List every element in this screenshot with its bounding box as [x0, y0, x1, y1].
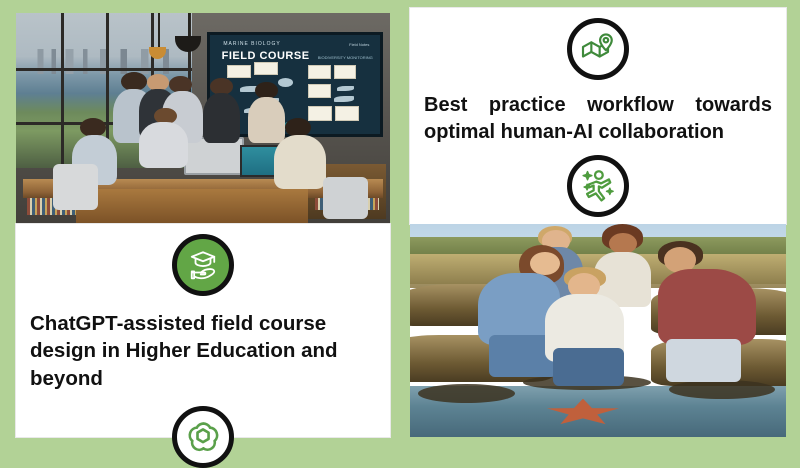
front-desk [76, 189, 308, 223]
board-title-large: FIELD COURSE [222, 50, 310, 62]
right-caption-text: Best practice workflow towards optimal h… [410, 92, 786, 145]
lamp-cord [188, 13, 190, 36]
map-with-location-pin-icon [567, 18, 629, 80]
left-text-panel: ChatGPT-assisted field course design in … [16, 224, 390, 437]
left-caption-block: ChatGPT-assisted field course design in … [16, 224, 390, 437]
person-head [121, 72, 147, 91]
board-side-heading-2: BIODIVERSITY MONITORING [318, 55, 373, 60]
openai-logo-icon [172, 406, 234, 468]
graduation-cap-in-hand-icon [172, 234, 234, 296]
office-chair [323, 177, 368, 219]
pendant-lamp [149, 47, 166, 59]
seaweed-patch [669, 380, 774, 399]
student-head [609, 233, 637, 254]
student-leg [553, 348, 624, 386]
left-caption-text: ChatGPT-assisted field course design in … [16, 310, 390, 392]
right-caption-block: Best practice workflow towards optimal h… [410, 8, 786, 224]
studio-classroom-photo: MARINE BIOLOGY FIELD COURSE Field Notes … [16, 13, 390, 223]
board-note [335, 106, 359, 121]
student-body [658, 269, 756, 346]
board-squid [278, 78, 293, 87]
window-transom [16, 68, 192, 71]
active-person-with-stars-icon [567, 155, 629, 217]
board-note [334, 65, 356, 80]
person-body [248, 97, 285, 143]
board-fish [337, 86, 354, 91]
office-chair [53, 164, 98, 210]
board-note [308, 106, 332, 121]
board-side-heading: Field Notes [349, 42, 369, 47]
right-photo-panel [410, 224, 786, 437]
rockpool-fieldwork-photo [410, 224, 786, 437]
board-note [227, 65, 251, 79]
person-body [274, 135, 326, 190]
student-leg [666, 339, 741, 382]
seaweed-patch [418, 384, 516, 403]
right-text-panel: Best practice workflow towards optimal h… [410, 8, 786, 224]
board-note [308, 65, 330, 80]
window-mullion [61, 13, 64, 168]
board-note [254, 62, 278, 76]
board-title-small: MARINE BIOLOGY [223, 41, 280, 47]
board-fish [334, 96, 354, 102]
slide-canvas: MARINE BIOLOGY FIELD COURSE Field Notes … [0, 0, 800, 450]
person-body [203, 93, 240, 143]
person-body [139, 122, 188, 168]
board-note [308, 84, 330, 98]
lamp-cord [158, 13, 160, 47]
left-photo-panel: MARINE BIOLOGY FIELD COURSE Field Notes … [16, 13, 390, 223]
